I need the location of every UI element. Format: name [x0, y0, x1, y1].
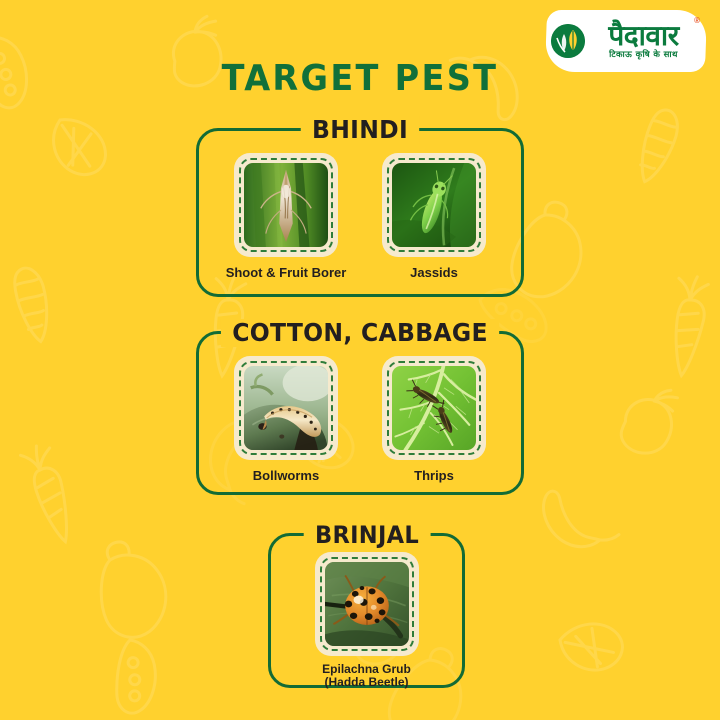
- photo-frame: [315, 552, 419, 656]
- photo-frame: [382, 153, 486, 257]
- brand-logo[interactable]: पैदावार टिकाऊ कृषि के साथ ®: [546, 10, 706, 72]
- photo-frame: [234, 356, 338, 460]
- pest-caption: Epilachna Grub (Hadda Beetle): [292, 663, 442, 690]
- pest-caption: Bollworms: [211, 469, 361, 484]
- dashed-border: [239, 361, 333, 455]
- thrips-on-leaf-photo: [392, 366, 476, 450]
- photo-frame: [234, 153, 338, 257]
- photo-frame: [382, 356, 486, 460]
- logo-tagline: टिकाऊ कृषि के साथ: [609, 51, 678, 60]
- pest-card-thrips[interactable]: Thrips: [380, 356, 488, 484]
- pest-card-shoot-and-fruit-borer[interactable]: Shoot & Fruit Borer: [232, 153, 340, 281]
- panel-bhindi: BHINDI: [196, 128, 524, 297]
- pest-caption: Jassids: [359, 266, 509, 281]
- shoot-and-fruit-borer-moth-photo: [244, 163, 328, 247]
- panel-label-cotton-cabbage: COTTON, CABBAGE: [221, 319, 499, 347]
- dashed-border: [387, 361, 481, 455]
- dashed-border: [239, 158, 333, 252]
- trademark-symbol: ®: [694, 16, 700, 25]
- pest-card-bollworms[interactable]: Bollworms: [232, 356, 340, 484]
- dashed-border: [387, 158, 481, 252]
- jassid-leafhopper-photo: [392, 163, 476, 247]
- panel-cotton-cabbage: COTTON, CABBAGE: [196, 331, 524, 495]
- panel-brinjal: BRINJAL: [268, 533, 465, 688]
- panel-label-bhindi: BHINDI: [301, 116, 419, 144]
- dashed-border: [320, 557, 414, 651]
- logo-wordmark: पैदावार: [608, 22, 678, 50]
- pest-caption: Shoot & Fruit Borer: [211, 266, 361, 281]
- epilachna-hadda-beetle-photo: [325, 562, 409, 646]
- panel-label-brinjal: BRINJAL: [303, 521, 430, 549]
- bollworm-caterpillar-photo: [244, 366, 328, 450]
- pest-card-jassids[interactable]: Jassids: [380, 153, 488, 281]
- wheat-leaf-icon: [551, 24, 585, 58]
- pest-card-epilachna-grub[interactable]: Epilachna Grub (Hadda Beetle): [313, 552, 421, 690]
- pest-caption: Thrips: [359, 469, 509, 484]
